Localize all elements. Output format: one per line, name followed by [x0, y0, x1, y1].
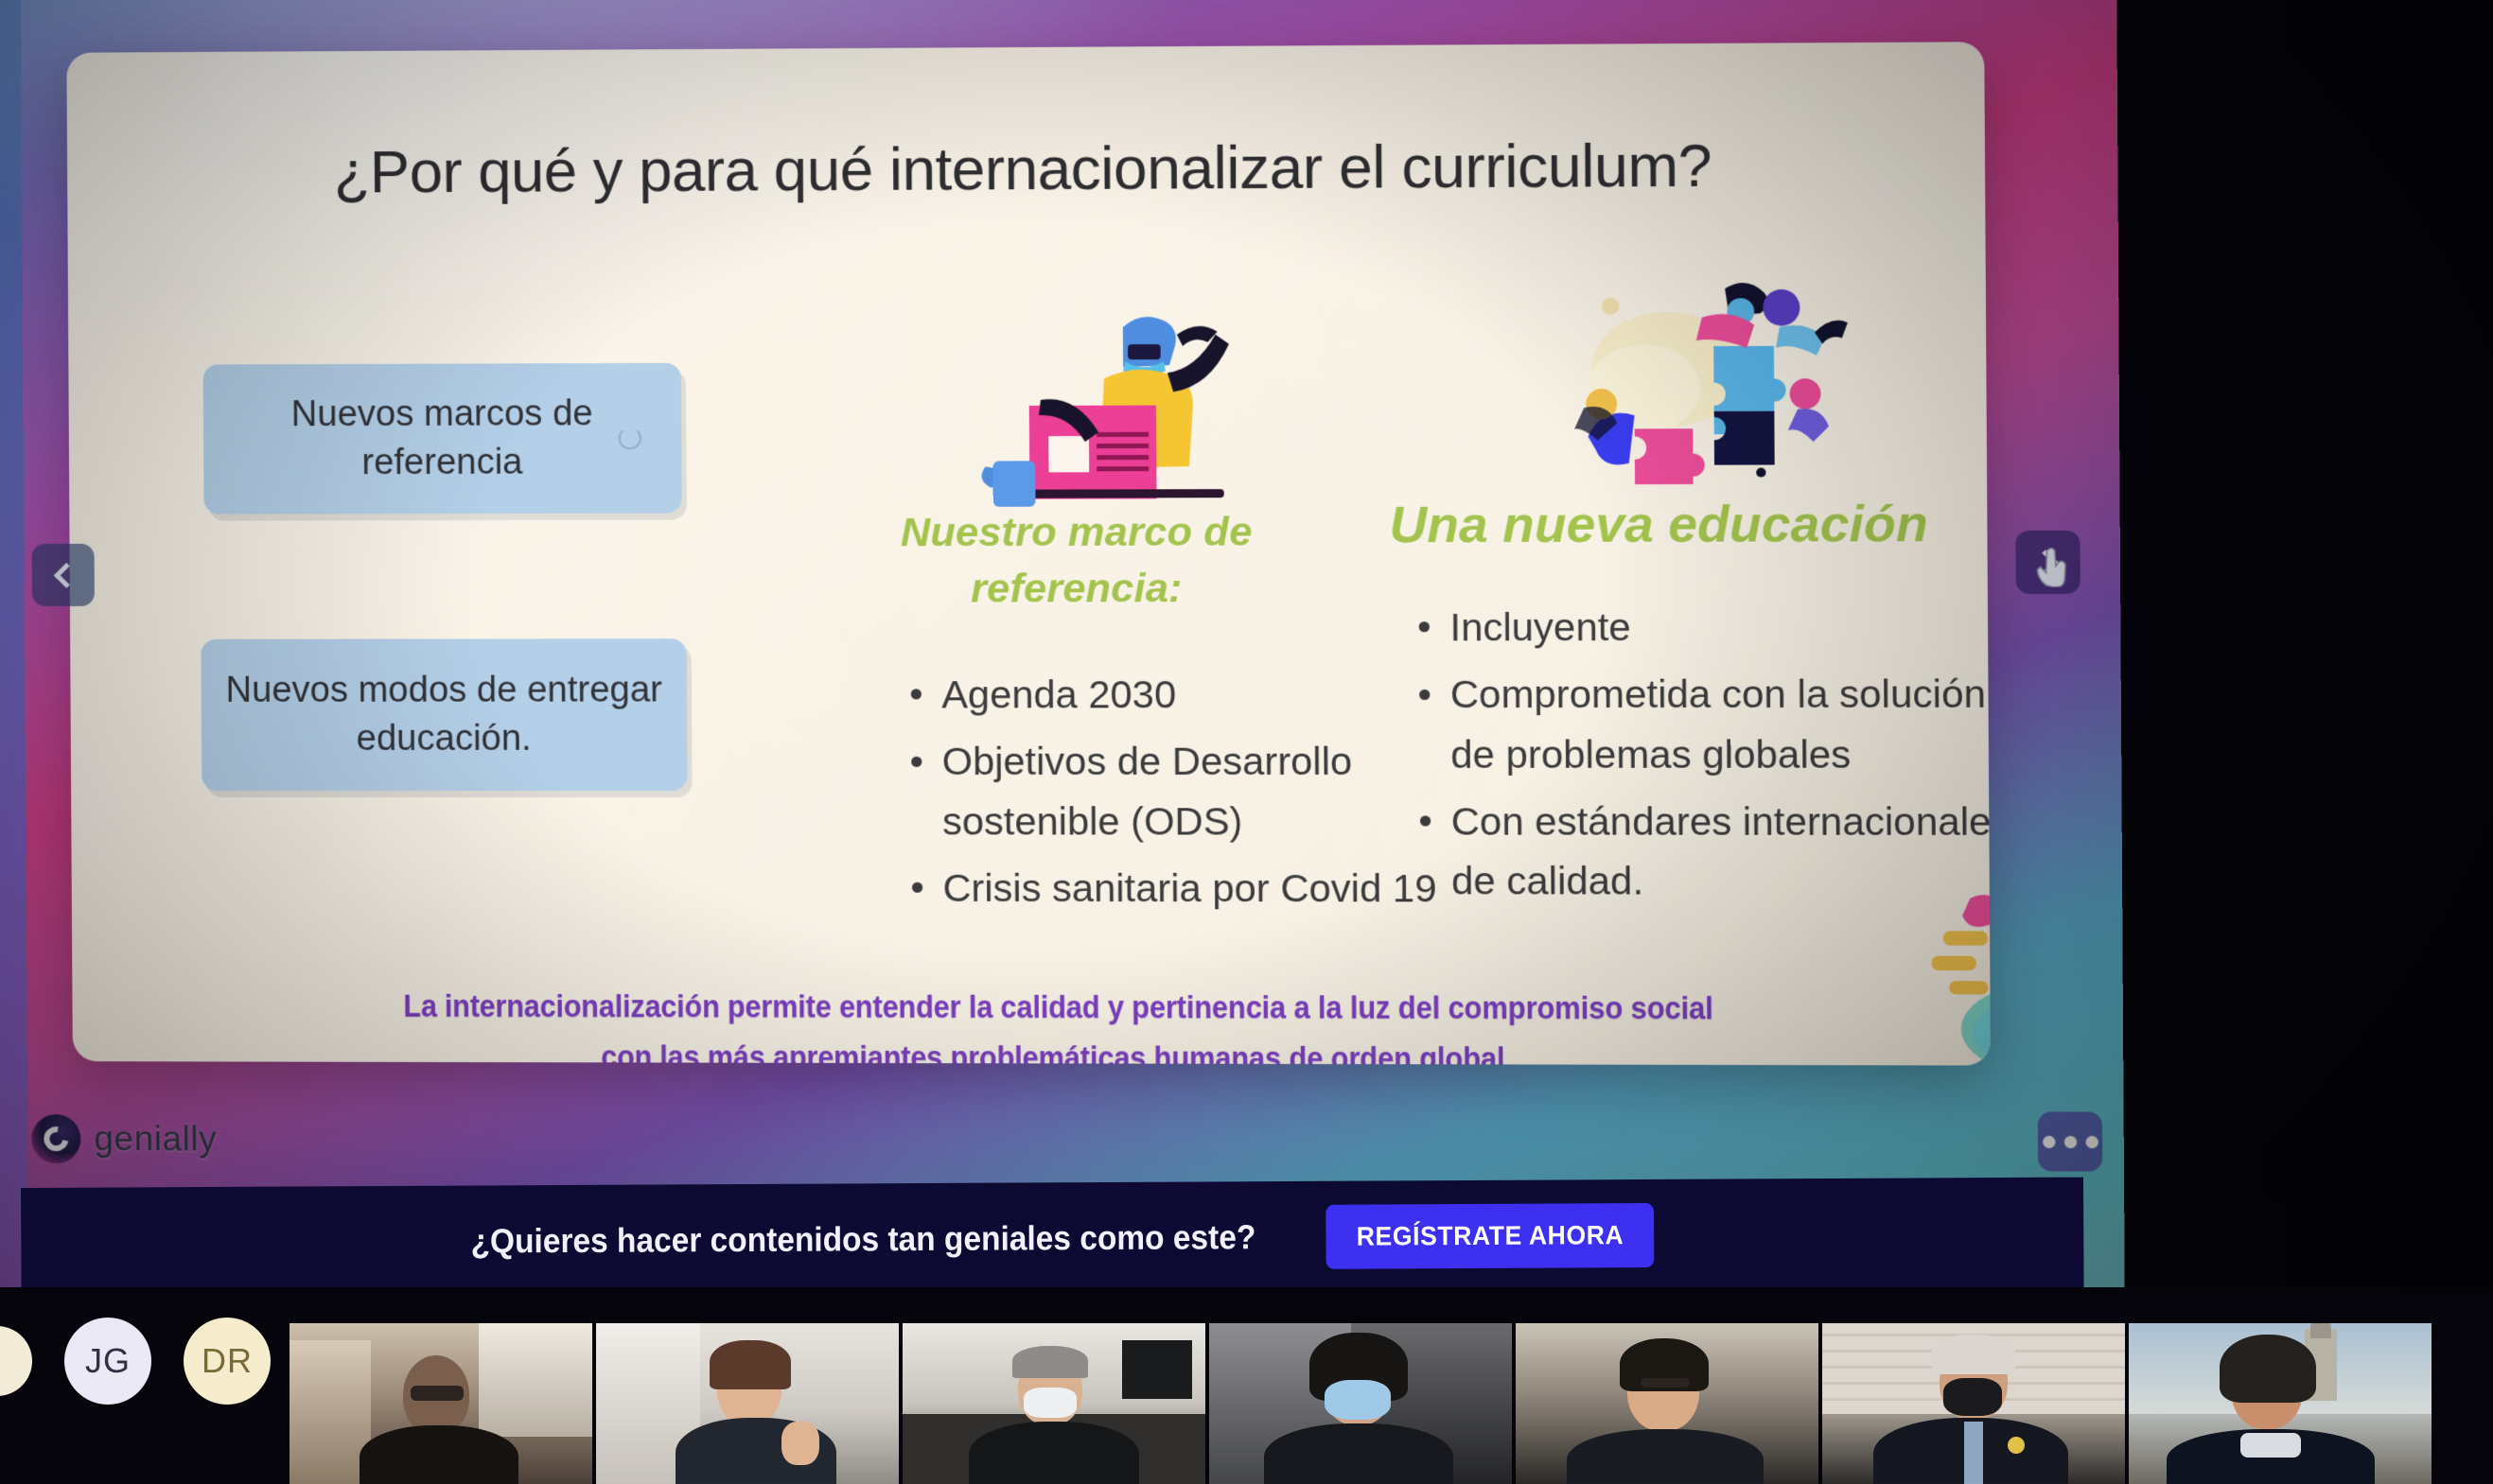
promo-bar: ¿Quieres hacer contenidos tan geniales c… [21, 1178, 2084, 1300]
genially-viewport: ¿Por qué y para qué internacionalizar el… [21, 0, 2125, 1323]
list-item: Comprometida con la solución de problema… [1408, 664, 1991, 784]
screenshot-root: ¿Por qué y para qué internacionalizar el… [0, 0, 2493, 1484]
avatar[interactable] [0, 1326, 32, 1396]
participant-video-tile[interactable] [1209, 1323, 1512, 1484]
center-column-heading: Nuestro marco de referencia: [851, 504, 1303, 618]
list-item: Objetivos de Desarrollo sostenible (ODS) [900, 732, 1440, 851]
dot-icon [2043, 1135, 2055, 1147]
participant-video-tile[interactable] [903, 1323, 1205, 1484]
participant-video-tile[interactable] [1516, 1323, 1818, 1484]
puzzle-pieces-illustration [1551, 272, 1853, 489]
person-with-laptop-illustration [978, 302, 1258, 508]
chevron-right-icon [2032, 550, 2059, 575]
list-item: Agenda 2030 [899, 665, 1438, 725]
genially-logo-icon [31, 1114, 80, 1163]
presentation-slide: ¿Por qué y para qué internacionalizar el… [66, 42, 1991, 1065]
corner-decoration-illustration [1925, 877, 1991, 1065]
center-bullet-list: Agenda 2030 Objetivos de Desarrollo sost… [899, 665, 1440, 926]
avatar[interactable]: JG [64, 1318, 151, 1405]
avatar[interactable]: DR [184, 1318, 271, 1405]
avatar-initials: DR [202, 1341, 253, 1381]
participant-video-tile[interactable] [2129, 1323, 2432, 1484]
participant-video-tile[interactable] [290, 1323, 592, 1484]
genially-wordmark: genially [94, 1119, 217, 1159]
right-bullet-list: Incluyente Comprometida con la solución … [1407, 597, 1991, 919]
promo-text: ¿Quieres hacer contenidos tan geniales c… [471, 1217, 1256, 1261]
info-box-label: Nuevos modos de entregar educación. [219, 667, 671, 763]
prev-slide-button[interactable] [32, 544, 95, 606]
more-options-button[interactable] [2038, 1111, 2103, 1171]
participant-video-tile[interactable] [1822, 1323, 2125, 1484]
list-item: Crisis sanitaria por Covid 19 [901, 859, 1440, 918]
list-item: Con estándares internacionales de calida… [1409, 792, 1991, 912]
list-item: Incluyente [1407, 597, 1991, 657]
info-box-nuevos-marcos: Nuevos marcos de referencia [203, 363, 682, 515]
slide-caption: La internacionalización permite entender… [395, 981, 1722, 1066]
genially-branding[interactable]: genially [31, 1114, 217, 1164]
dot-icon [2085, 1135, 2098, 1147]
register-now-button[interactable]: REGÍSTRATE AHORA [1326, 1203, 1655, 1269]
participant-video-tile[interactable] [596, 1323, 899, 1484]
projected-screen: ¿Por qué y para qué internacionalizar el… [21, 0, 2125, 1323]
spinner-dot-icon [619, 427, 641, 449]
page-title: ¿Por qué y para qué internacionalizar el… [67, 131, 1985, 208]
info-box-label: Nuevos marcos de referencia [220, 390, 665, 487]
info-box-nuevos-modos: Nuevos modos de entregar educación. [201, 638, 687, 791]
right-column-heading: Una nueva educación [1389, 493, 1991, 556]
participant-filmstrip: JG DR [0, 1287, 2493, 1484]
chevron-left-icon [53, 562, 79, 587]
dot-icon [2063, 1135, 2076, 1147]
avatar-group: JG DR [0, 1287, 290, 1484]
next-slide-button[interactable] [2015, 531, 2080, 594]
avatar-initials: JG [85, 1341, 131, 1381]
